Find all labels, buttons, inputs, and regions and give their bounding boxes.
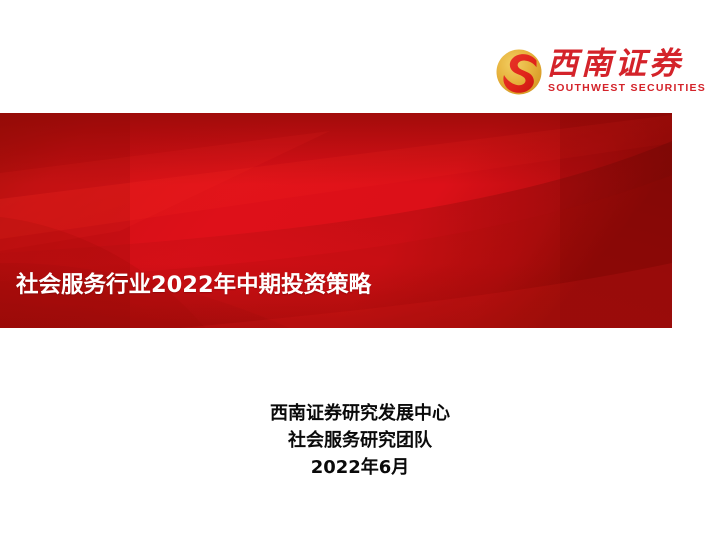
slide-footer: 西南证券研究发展中心 社会服务研究团队 2022年6月 [0, 400, 720, 481]
brand-name-cn: 西南证券 [547, 44, 695, 84]
southwest-securities-logo-mark-icon [495, 48, 543, 96]
brand-name-en: SOUTHWEST SECURITIES [548, 82, 698, 94]
footer-team: 社会服务研究团队 [0, 427, 720, 454]
footer-date: 2022年6月 [0, 454, 720, 481]
footer-institution: 西南证券研究发展中心 [0, 400, 720, 427]
brand-logo: 西南证券 SOUTHWEST SECURITIES [495, 44, 695, 104]
title-banner: 社会服务行业2022年中期投资策略 景气度回升在即，把握流量重构 与业绩修复主线 [0, 113, 672, 328]
title-slide: 西南证券 SOUTHWEST SECURITIES [0, 0, 720, 540]
report-headline: 景气度回升在即，把握流量重构 与业绩修复主线 [0, 327, 672, 328]
report-subtitle: 社会服务行业2022年中期投资策略 [16, 267, 371, 299]
